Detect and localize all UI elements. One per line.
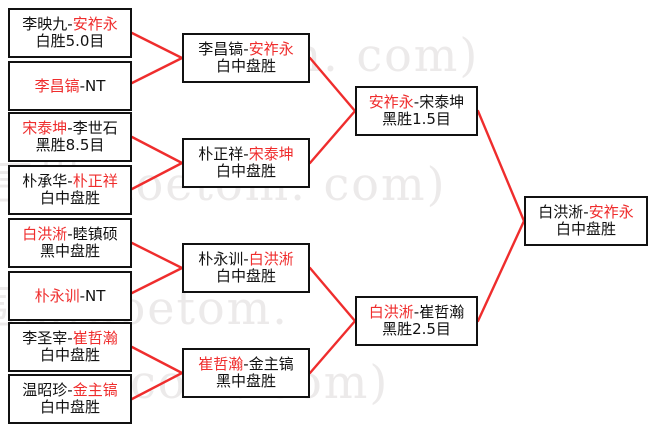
player-winner: 白洪淅 — [369, 303, 414, 321]
connector-r2m3-sf2 — [310, 268, 355, 321]
player-winner: 安祚永 — [589, 203, 634, 221]
match-result: 黑胜8.5目 — [36, 137, 105, 154]
player-loser: 李昌镐 — [198, 40, 243, 58]
player-loser: 白洪淅 — [538, 203, 583, 221]
player-loser: 朴永训 — [198, 250, 243, 268]
match-box-r1m5[interactable]: 白洪淅-睦镇硕 黑中盘胜 — [8, 218, 132, 268]
player-winner: 安祚永 — [73, 15, 118, 33]
match-players: 李映九-安祚永 — [22, 16, 117, 33]
match-result: 黑中盘胜 — [216, 373, 276, 390]
match-box-final[interactable]: 白洪淅-安祚永 白中盘胜 — [524, 196, 648, 246]
match-box-r2m1[interactable]: 李昌镐-安祚永 白中盘胜 — [182, 33, 310, 83]
player-winner: 李昌镐 — [35, 77, 80, 95]
player-winner: 安祚永 — [249, 40, 294, 58]
match-result: 黑中盘胜 — [40, 243, 100, 260]
match-result: 黑胜2.5目 — [382, 321, 451, 338]
match-result: 白中盘胜 — [216, 268, 276, 285]
connector-r1m7-r2m4 — [132, 347, 182, 373]
match-box-r2m4[interactable]: 崔哲瀚-金主镐 黑中盘胜 — [182, 348, 310, 398]
match-players: 白洪淅-崔哲瀚 — [369, 304, 464, 321]
connector-r1m5-r2m3 — [132, 243, 182, 268]
player-winner: 金主镐 — [73, 381, 118, 399]
player-loser: 宋泰坤 — [419, 93, 464, 111]
match-players: 白洪淅-睦镇硕 — [22, 226, 117, 243]
bracket-diagram: com. com) 围棋(hoetom. com) 围棋(hoetom. com… — [0, 0, 656, 429]
player-winner: 宋泰坤 — [249, 145, 294, 163]
match-players: 安祚永-宋泰坤 — [369, 94, 464, 111]
player-opponent: NT — [85, 77, 105, 95]
match-result: 白中盘胜 — [40, 399, 100, 416]
match-result: 白中盘胜 — [216, 163, 276, 180]
connector-r2m2-sf1 — [310, 111, 355, 163]
match-players: 李昌镐-安祚永 — [198, 41, 293, 58]
match-box-r1m3[interactable]: 宋泰坤-李世石 黑胜8.5目 — [8, 112, 132, 162]
match-result: 白中盘胜 — [556, 221, 616, 238]
connector-r2m4-sf2 — [310, 321, 355, 373]
match-box-r2m2[interactable]: 朴正祥-宋泰坤 白中盘胜 — [182, 138, 310, 188]
match-players: 崔哲瀚-金主镐 — [198, 356, 293, 373]
match-players: 白洪淅-安祚永 — [538, 204, 633, 221]
match-players: 李圣宰-崔哲瀚 — [22, 330, 117, 347]
player-winner: 白洪淅 — [22, 225, 67, 243]
player-winner: 崔哲瀚 — [198, 355, 243, 373]
match-box-r2m3[interactable]: 朴永训-白洪淅 白中盘胜 — [182, 243, 310, 293]
match-box-r1m7[interactable]: 李圣宰-崔哲瀚 白中盘胜 — [8, 322, 132, 372]
player-winner: 朴正祥 — [73, 172, 118, 190]
match-box-r1m8[interactable]: 温昭珍-金主镐 白中盘胜 — [8, 374, 132, 424]
match-players: 李昌镐-NT — [35, 78, 106, 95]
connector-r1m2-r2m1 — [132, 58, 182, 83]
match-players: 朴永训-白洪淅 — [198, 251, 293, 268]
match-result: 白中盘胜 — [216, 58, 276, 75]
connector-sf2-final — [478, 221, 524, 321]
match-box-r1m2[interactable]: 李昌镐-NT — [8, 61, 132, 111]
connector-r1m1-r2m1 — [132, 33, 182, 58]
player-loser: 温昭珍 — [22, 381, 67, 399]
match-players: 宋泰坤-李世石 — [22, 120, 117, 137]
player-loser: 睦镇硕 — [73, 225, 118, 243]
player-loser: 朴承华 — [22, 172, 67, 190]
player-loser: 李世石 — [73, 119, 118, 137]
match-result: 白中盘胜 — [40, 347, 100, 364]
player-winner: 安祚永 — [369, 93, 414, 111]
match-box-sf2[interactable]: 白洪淅-崔哲瀚 黑胜2.5目 — [355, 296, 478, 346]
match-box-r1m6[interactable]: 朴永训-NT — [8, 271, 132, 321]
player-loser: 金主镐 — [249, 355, 294, 373]
match-players: 朴正祥-宋泰坤 — [198, 146, 293, 163]
match-box-sf1[interactable]: 安祚永-宋泰坤 黑胜1.5目 — [355, 86, 478, 136]
connector-r1m4-r2m2 — [132, 163, 182, 189]
match-result: 白中盘胜 — [40, 190, 100, 207]
player-winner: 宋泰坤 — [22, 119, 67, 137]
player-loser: 李映九 — [22, 15, 67, 33]
match-result: 黑胜1.5目 — [382, 111, 451, 128]
match-box-r1m1[interactable]: 李映九-安祚永 白胜5.0目 — [8, 8, 132, 58]
connector-r1m6-r2m3 — [132, 268, 182, 293]
connector-r1m3-r2m2 — [132, 137, 182, 163]
player-loser: 崔哲瀚 — [419, 303, 464, 321]
player-loser: 李圣宰 — [22, 329, 67, 347]
player-winner: 白洪淅 — [249, 250, 294, 268]
match-box-r1m4[interactable]: 朴承华-朴正祥 白中盘胜 — [8, 165, 132, 215]
connector-r2m1-sf1 — [310, 58, 355, 111]
connector-sf1-final — [478, 111, 524, 221]
match-players: 朴承华-朴正祥 — [22, 173, 117, 190]
player-opponent: NT — [85, 287, 105, 305]
match-result: 白胜5.0目 — [36, 33, 105, 50]
connector-r1m8-r2m4 — [132, 373, 182, 399]
player-winner: 崔哲瀚 — [73, 329, 118, 347]
match-players: 温昭珍-金主镐 — [22, 382, 117, 399]
match-players: 朴永训-NT — [35, 288, 106, 305]
player-winner: 朴永训 — [35, 287, 80, 305]
player-loser: 朴正祥 — [198, 145, 243, 163]
